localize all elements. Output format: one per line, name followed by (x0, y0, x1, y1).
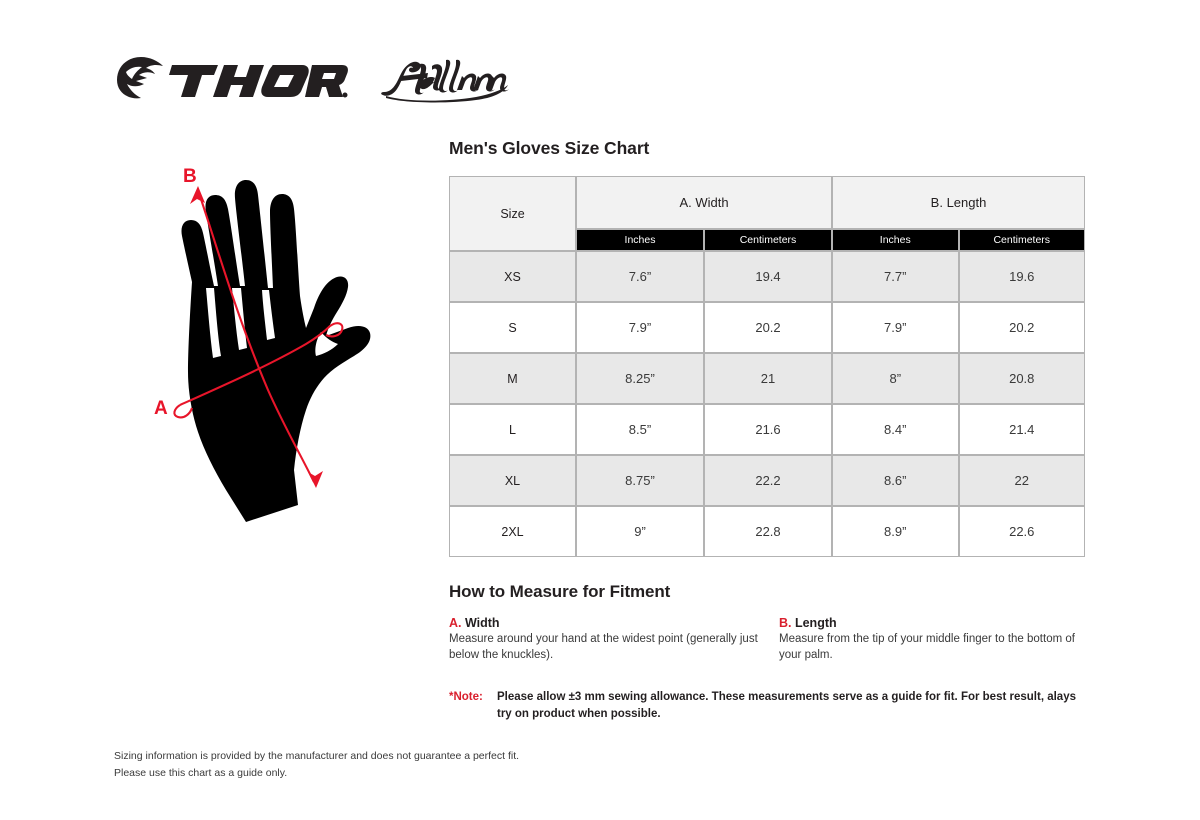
size-chart-content: Men's Gloves Size Chart Size A. Width B.… (449, 138, 1085, 722)
row-size-label: L (449, 404, 576, 455)
cell-width-inches: 7.9” (576, 302, 704, 353)
how-to-measure-title: How to Measure for Fitment (449, 582, 1085, 602)
measure-label-b: B (183, 166, 197, 187)
size-chart-table: Size A. Width B. Length Inches Centimete… (449, 176, 1085, 557)
column-group-width: A. Width (576, 176, 832, 229)
hand-measurement-diagram: A B (118, 160, 428, 555)
cell-width-centimeters: 19.4 (704, 251, 832, 302)
cell-length-inches: 8.4” (832, 404, 959, 455)
column-header-size: Size (449, 176, 576, 251)
cell-length-inches: 7.7” (832, 251, 959, 302)
note-label: *Note: (449, 689, 497, 722)
cell-width-inches: 8.75” (576, 455, 704, 506)
footer-line-2: Please use this chart as a guide only. (114, 765, 519, 782)
measure-item-width-heading: A. Width (449, 616, 779, 630)
table-row: S7.9”20.27.9”20.2 (449, 302, 1085, 353)
cell-length-inches: 8.9” (832, 506, 959, 557)
how-to-measure-columns: A. Width Measure around your hand at the… (449, 616, 1085, 663)
table-row: L8.5”21.68.4”21.4 (449, 404, 1085, 455)
cell-length-centimeters: 21.4 (959, 404, 1086, 455)
table-row: XL8.75”22.28.6”22 (449, 455, 1085, 506)
cell-length-inches: 8.6” (832, 455, 959, 506)
cell-length-centimeters: 20.2 (959, 302, 1086, 353)
cell-width-inches: 7.6” (576, 251, 704, 302)
measure-item-length: B. Length Measure from the tip of your m… (779, 616, 1085, 663)
cell-length-inches: 7.9” (832, 302, 959, 353)
row-size-label: XL (449, 455, 576, 506)
cell-width-inches: 8.25” (576, 353, 704, 404)
hallman-logo (376, 52, 516, 109)
row-size-label: XS (449, 251, 576, 302)
footer-line-1: Sizing information is provided by the ma… (114, 748, 519, 765)
cell-width-centimeters: 21.6 (704, 404, 832, 455)
measure-label-length: Length (792, 616, 837, 630)
column-header-length-centimeters: Centimeters (959, 229, 1086, 251)
note-row: *Note: Please allow ±3 mm sewing allowan… (449, 689, 1085, 722)
table-row: M8.25”218”20.8 (449, 353, 1085, 404)
column-header-width-inches: Inches (576, 229, 704, 251)
cell-width-centimeters: 20.2 (704, 302, 832, 353)
row-size-label: 2XL (449, 506, 576, 557)
cell-length-centimeters: 20.8 (959, 353, 1086, 404)
table-body: XS7.6”19.47.7”19.6S7.9”20.27.9”20.2M8.25… (449, 251, 1085, 557)
measure-description-width: Measure around your hand at the widest p… (449, 632, 761, 663)
column-group-length: B. Length (832, 176, 1085, 229)
cell-width-centimeters: 21 (704, 353, 832, 404)
cell-width-inches: 9” (576, 506, 704, 557)
cell-length-centimeters: 22.6 (959, 506, 1086, 557)
measure-description-length: Measure from the tip of your middle fing… (779, 632, 1085, 663)
cell-width-centimeters: 22.2 (704, 455, 832, 506)
measure-letter-b: B. (779, 616, 792, 630)
cell-length-centimeters: 22 (959, 455, 1086, 506)
column-header-length-inches: Inches (832, 229, 959, 251)
cell-length-centimeters: 19.6 (959, 251, 1086, 302)
brand-logo-bar (114, 52, 516, 111)
hand-silhouette (181, 180, 370, 522)
measure-item-width: A. Width Measure around your hand at the… (449, 616, 779, 663)
note-text: Please allow ±3 mm sewing allowance. The… (497, 689, 1085, 722)
table-row: 2XL9”22.88.9”22.6 (449, 506, 1085, 557)
thor-logo (114, 54, 348, 111)
footer-disclaimer: Sizing information is provided by the ma… (114, 748, 519, 782)
table-row: XS7.6”19.47.7”19.6 (449, 251, 1085, 302)
page-title: Men's Gloves Size Chart (449, 138, 1085, 159)
table-header: Size A. Width B. Length Inches Centimete… (449, 176, 1085, 251)
measure-letter-a: A. (449, 616, 462, 630)
cell-width-centimeters: 22.8 (704, 506, 832, 557)
column-header-width-centimeters: Centimeters (704, 229, 832, 251)
measure-label-width: Width (462, 616, 500, 630)
measure-item-length-heading: B. Length (779, 616, 1085, 630)
table-header-row-groups: Size A. Width B. Length (449, 176, 1085, 229)
thor-wordmark (168, 57, 348, 108)
row-size-label: S (449, 302, 576, 353)
thor-helmet-icon (114, 54, 166, 111)
cell-width-inches: 8.5” (576, 404, 704, 455)
measure-label-a: A (154, 398, 168, 419)
cell-length-inches: 8” (832, 353, 959, 404)
row-size-label: M (449, 353, 576, 404)
